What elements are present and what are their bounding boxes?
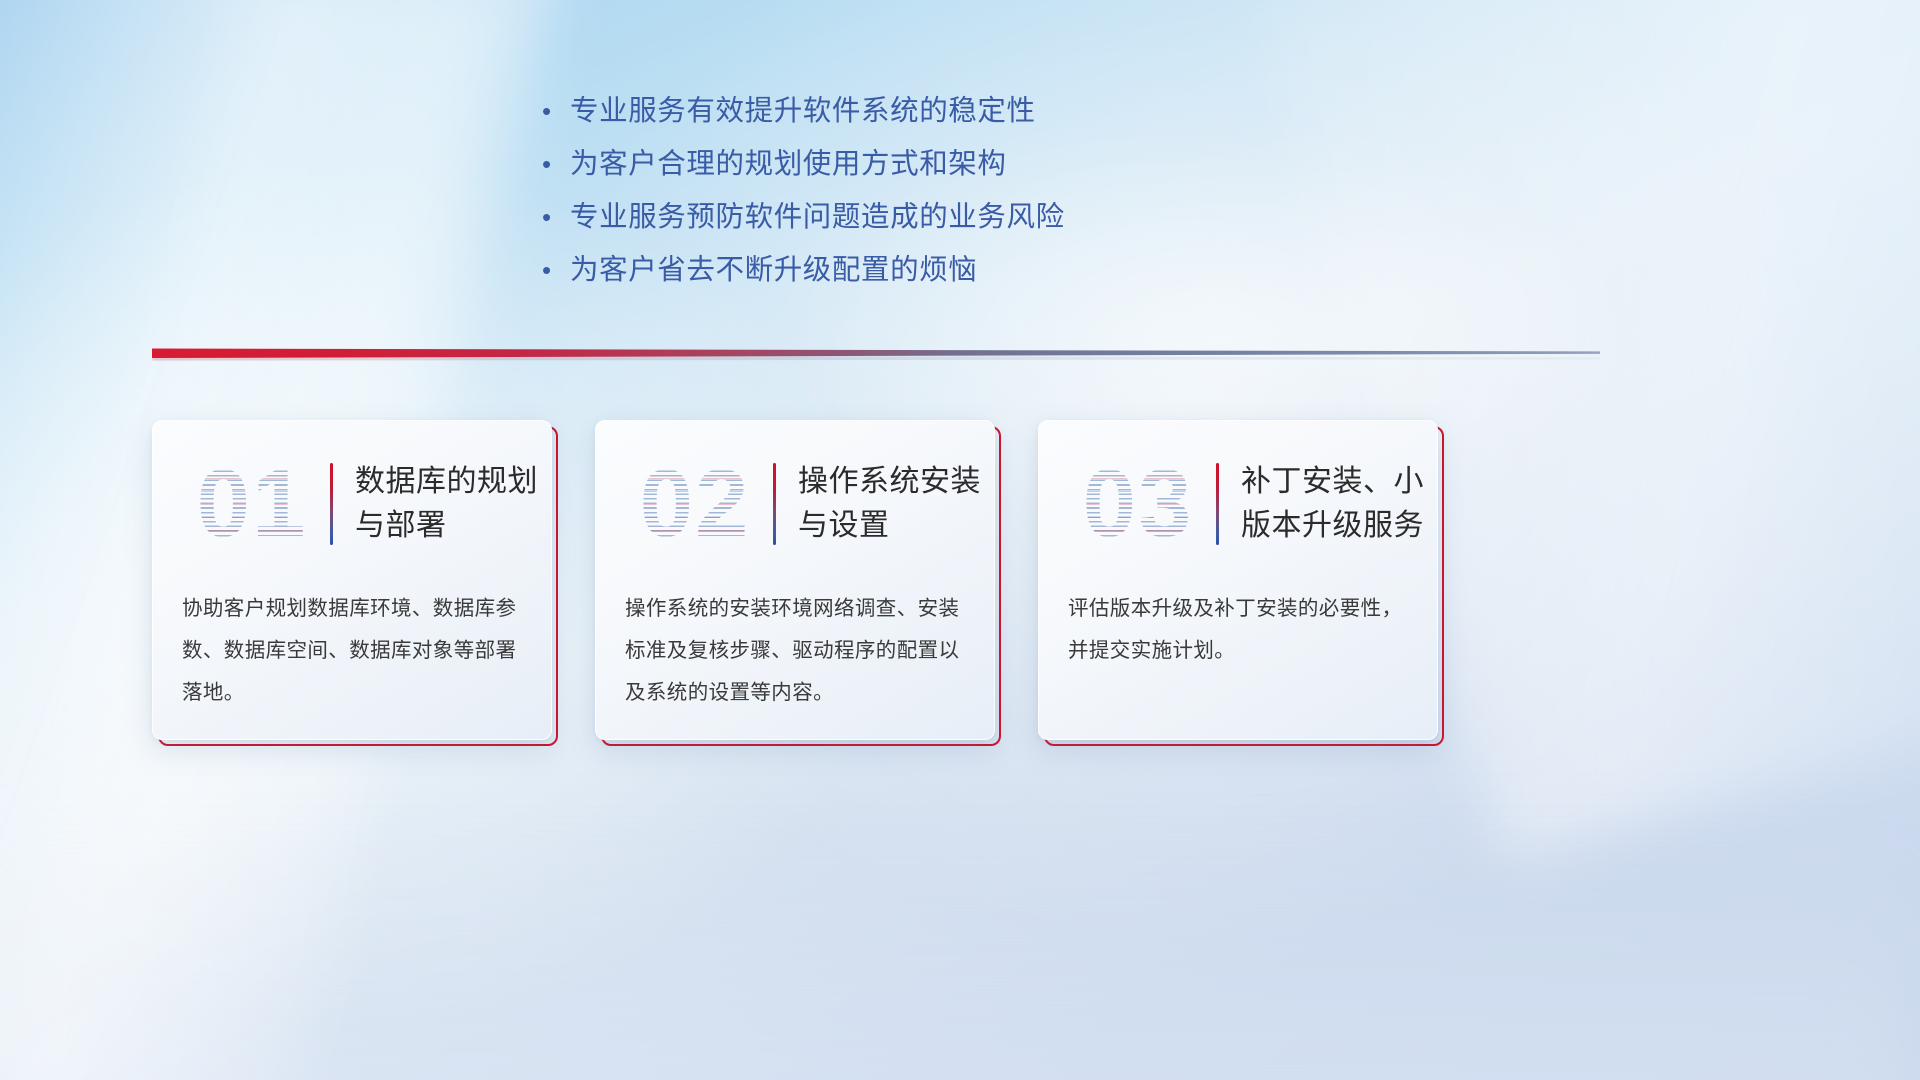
card-face: 02 操作系统安装与设置 操作系统的安装环境网络调查、安装标准及复核步骤、驱动程… — [595, 420, 995, 740]
card-divider-bar — [773, 463, 776, 545]
bullet-item: • 专业服务有效提升软件系统的稳定性 — [536, 88, 1316, 140]
bullet-marker-icon: • — [536, 151, 570, 177]
card-number: 02 — [621, 452, 769, 556]
card-header: 02 操作系统安装与设置 — [595, 440, 995, 568]
bullet-item: • 为客户省去不断升级配置的烦恼 — [536, 247, 1316, 299]
bullet-marker-icon: • — [536, 257, 570, 283]
bullet-marker-icon: • — [536, 98, 570, 124]
bullet-text: 专业服务有效提升软件系统的稳定性 — [570, 88, 1036, 129]
section-divider — [152, 344, 1600, 364]
bullet-list: • 专业服务有效提升软件系统的稳定性 • 为客户合理的规划使用方式和架构 • 专… — [536, 88, 1316, 300]
bottom-haze — [0, 820, 1920, 1080]
service-card[interactable]: 01 数据库的规划与部署 协助客户规划数据库环境、数据库参数、数据库空间、数据库… — [152, 420, 552, 740]
bullet-marker-icon: • — [536, 204, 570, 230]
bullet-text: 专业服务预防软件问题造成的业务风险 — [570, 194, 1065, 235]
card-face: 03 补丁安装、小版本升级服务 评估版本升级及补丁安装的必要性，并提交实施计划。 — [1038, 420, 1438, 740]
card-body-text: 操作系统的安装环境网络调查、安装标准及复核步骤、驱动程序的配置以及系统的设置等内… — [625, 588, 969, 714]
card-row: 01 数据库的规划与部署 协助客户规划数据库环境、数据库参数、数据库空间、数据库… — [152, 420, 1768, 740]
service-card[interactable]: 02 操作系统安装与设置 操作系统的安装环境网络调查、安装标准及复核步骤、驱动程… — [595, 420, 995, 740]
slide-canvas: • 专业服务有效提升软件系统的稳定性 • 为客户合理的规划使用方式和架构 • 专… — [0, 0, 1920, 1080]
card-number: 01 — [178, 452, 326, 556]
bullet-text: 为客户省去不断升级配置的烦恼 — [570, 247, 977, 288]
service-card[interactable]: 03 补丁安装、小版本升级服务 评估版本升级及补丁安装的必要性，并提交实施计划。 — [1038, 420, 1438, 740]
card-title: 补丁安装、小版本升级服务 — [1241, 460, 1438, 548]
card-divider-bar — [1216, 463, 1219, 545]
card-body-text: 协助客户规划数据库环境、数据库参数、数据库空间、数据库对象等部署落地。 — [182, 588, 526, 714]
bullet-item: • 专业服务预防软件问题造成的业务风险 — [536, 194, 1316, 246]
card-title: 数据库的规划与部署 — [355, 460, 552, 548]
card-divider-bar — [330, 463, 333, 545]
bullet-item: • 为客户合理的规划使用方式和架构 — [536, 141, 1316, 193]
card-title: 操作系统安装与设置 — [798, 460, 995, 548]
card-face: 01 数据库的规划与部署 协助客户规划数据库环境、数据库参数、数据库空间、数据库… — [152, 420, 552, 740]
card-header: 01 数据库的规划与部署 — [152, 440, 552, 568]
card-body-text: 评估版本升级及补丁安装的必要性，并提交实施计划。 — [1068, 588, 1412, 672]
card-header: 03 补丁安装、小版本升级服务 — [1038, 440, 1438, 568]
card-number: 03 — [1064, 452, 1212, 556]
bullet-text: 为客户合理的规划使用方式和架构 — [570, 141, 1007, 182]
